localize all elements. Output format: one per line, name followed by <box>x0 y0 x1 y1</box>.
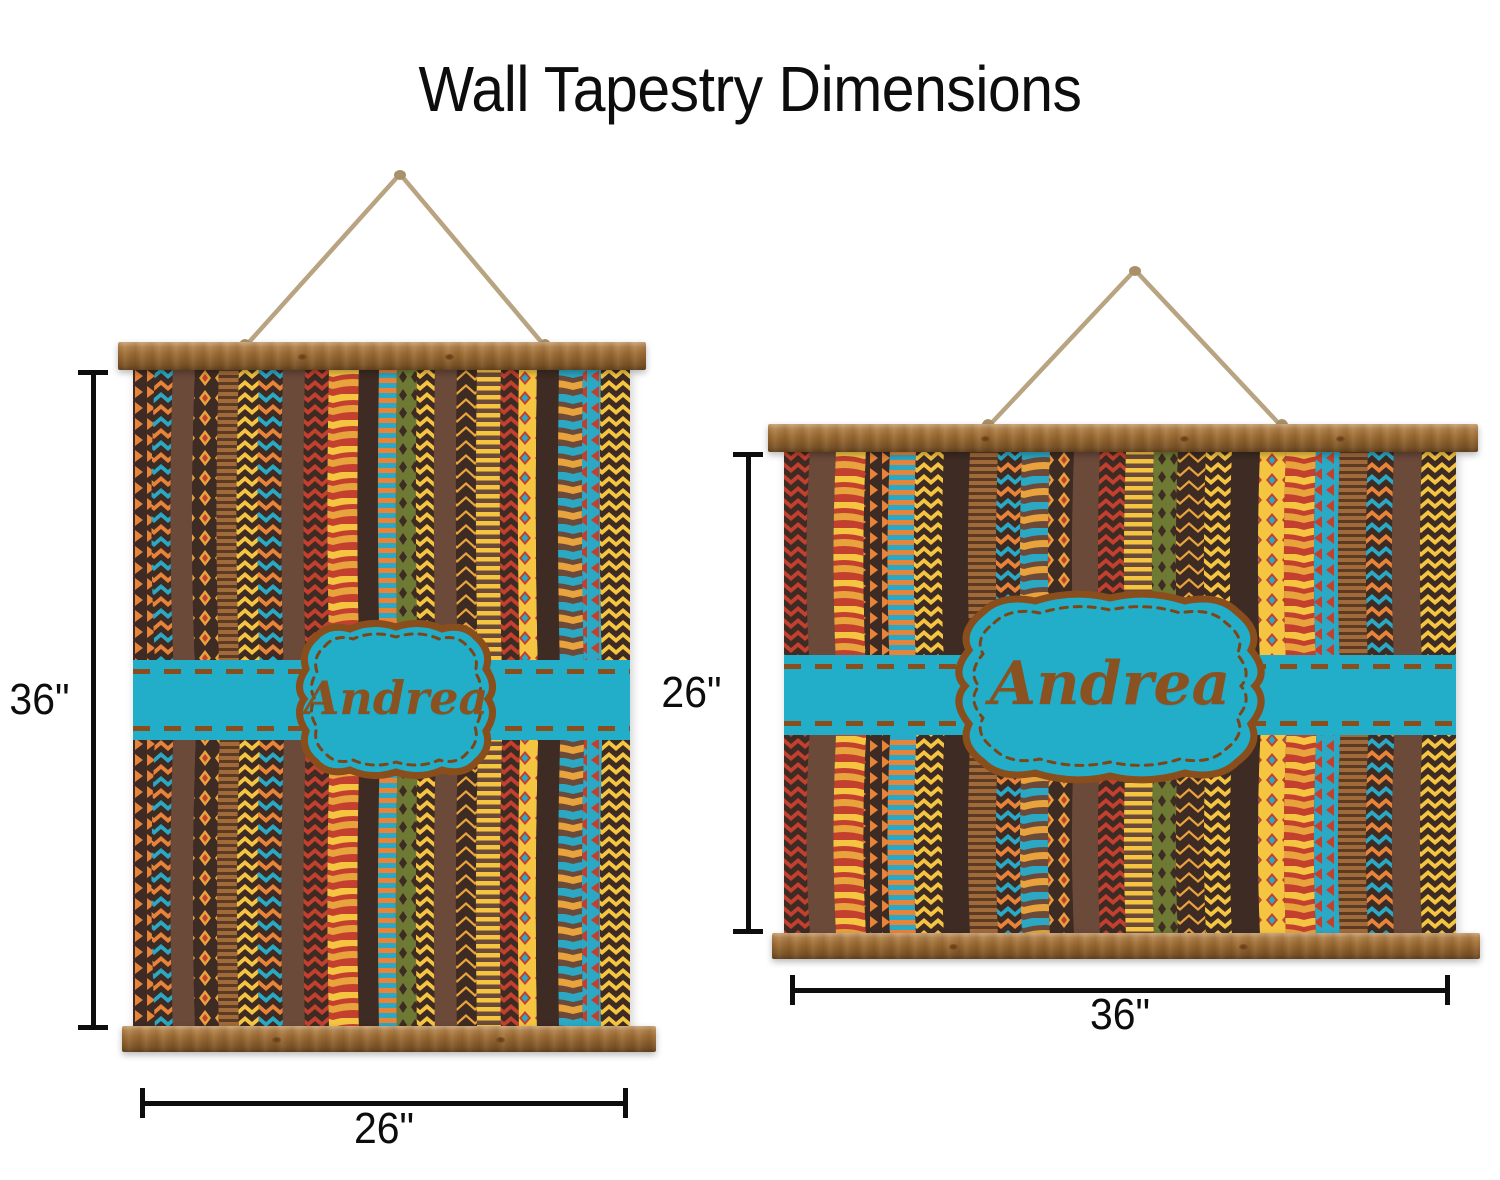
wood-rod-bottom-icon <box>122 1026 656 1052</box>
rope-hanger-icon <box>200 160 600 360</box>
landscape-height-label: 26" <box>655 668 722 718</box>
landscape-tapestry: Andrea 26" 36" <box>700 0 1500 1180</box>
decorative-plaque-icon: Andrea <box>925 586 1295 786</box>
personalized-name-landscape: Andrea <box>925 586 1295 786</box>
landscape-height-dimension-line <box>733 452 763 934</box>
portrait-width-label: 26" <box>291 1104 477 1154</box>
portrait-height-dimension-line <box>78 370 108 1030</box>
rope-hanger-icon <box>955 258 1315 438</box>
wood-rod-icon <box>768 424 1478 452</box>
wood-rod-bottom-icon <box>772 933 1480 959</box>
wood-rod-icon <box>118 342 646 370</box>
tapestry-dimensions-diagram: Wall Tapestry Dimensions <box>0 0 1500 1180</box>
personalized-name-portrait: Andrea <box>276 617 516 782</box>
decorative-plaque-icon: Andrea <box>276 617 516 782</box>
landscape-width-label: 36" <box>1027 990 1213 1040</box>
portrait-tapestry: Andrea 36" 26" <box>0 0 700 1180</box>
portrait-height-label: 36" <box>3 675 70 725</box>
